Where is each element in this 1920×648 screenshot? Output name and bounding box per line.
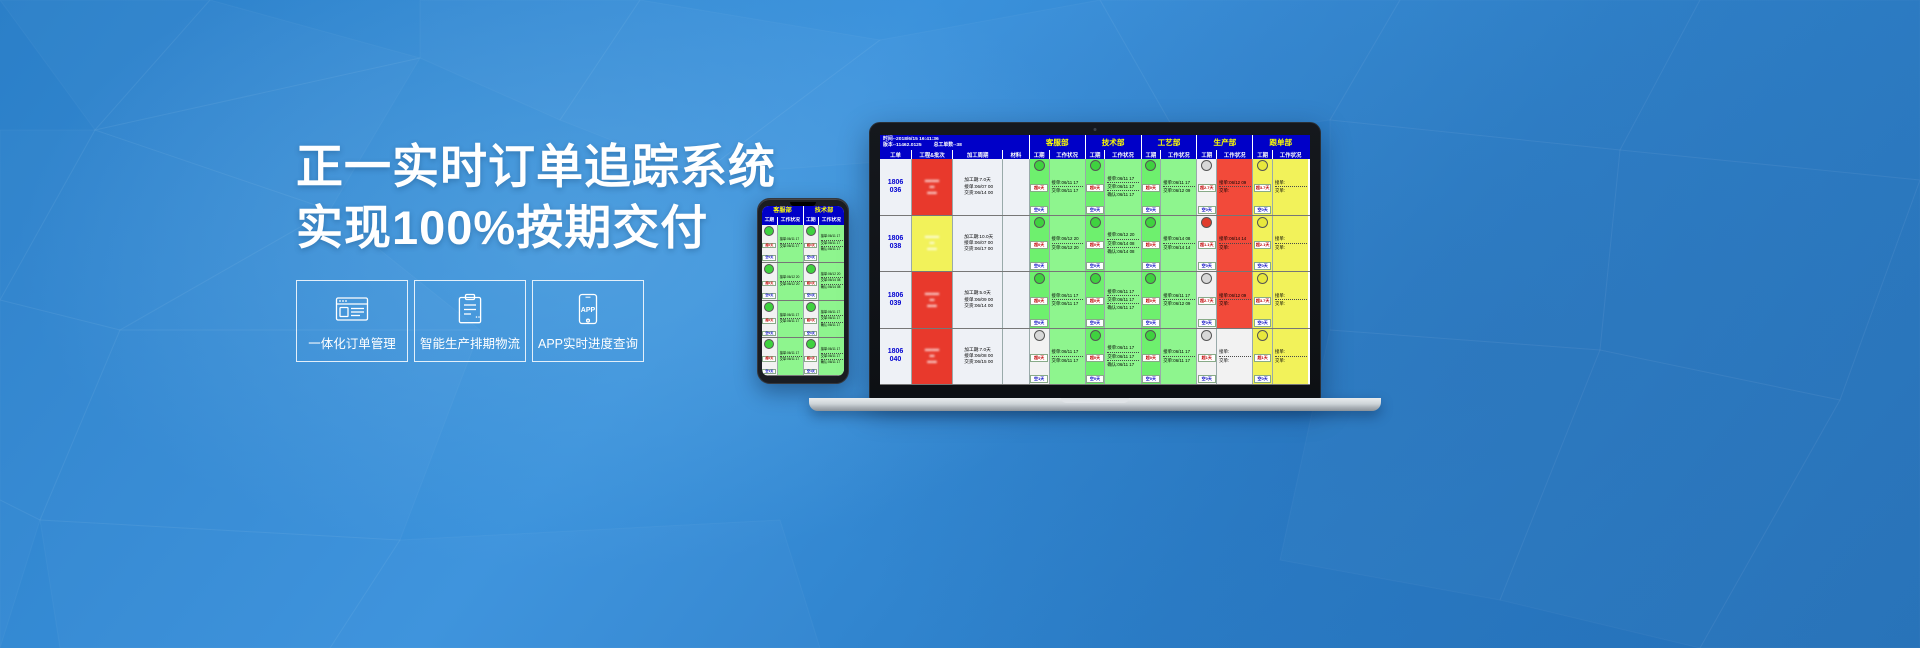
column-header-13: 工期 bbox=[1252, 150, 1272, 159]
duration-cell-4: 超1天空0天 bbox=[1196, 329, 1216, 385]
over-days-tag: 超2.7天 bbox=[1198, 184, 1216, 192]
status-dot bbox=[1201, 273, 1212, 284]
status-line-3: 确认:06/11 17 bbox=[1107, 304, 1139, 311]
column-header-10: 工作状况 bbox=[1160, 150, 1196, 159]
status-line-2: 交单:06/11 17 bbox=[1052, 357, 1084, 364]
status-line-1: 接单: bbox=[1275, 179, 1307, 187]
phone-column-header-3: 工期 bbox=[803, 217, 818, 225]
over-days-tag: 超0天 bbox=[804, 356, 817, 361]
laptop-base-notch bbox=[1061, 398, 1129, 403]
status-line-2: 交单:06/14 14 bbox=[1163, 244, 1195, 251]
phone-dept-header-1: 客服部 bbox=[762, 206, 803, 217]
status-cell-5: 接单:交单: bbox=[1272, 329, 1308, 385]
phone-duration-cell-2: 超0天空0天 bbox=[803, 225, 818, 262]
phone-status-cell-2: 接单:06/11 17交单:06/11 17确认:06/11 17 bbox=[818, 225, 844, 262]
status-cell-1: 接单:06/11 17交单:06/11 17 bbox=[1049, 329, 1085, 385]
idle-days-tag: 空0天 bbox=[1254, 319, 1272, 327]
phone-duration-cell-1: 超0天空0天 bbox=[762, 301, 777, 338]
over-days-tag: 超0天 bbox=[1030, 354, 1048, 362]
duration-cell-4: 超1.1天空0天 bbox=[1196, 216, 1216, 272]
phone-duration-cell-1: 超0天空1天 bbox=[762, 338, 777, 375]
column-header-7: 工期 bbox=[1085, 150, 1105, 159]
status-dot bbox=[1090, 330, 1101, 341]
order-number-line-1: 1806 bbox=[888, 179, 904, 187]
duration-cell-2: 超0天空0天 bbox=[1085, 329, 1105, 385]
over-days-tag: 超3.7天 bbox=[1254, 297, 1272, 305]
phone-duration-cell-1: 超0天空0天 bbox=[762, 225, 777, 262]
material-cell bbox=[1002, 159, 1029, 215]
idle-days-tag: 空1天 bbox=[1030, 375, 1048, 383]
status-cell-3: 接单:06/11 17交单:06/11 17 bbox=[1160, 329, 1196, 385]
phone-column-header-1: 工期 bbox=[762, 217, 777, 225]
idle-days-tag: 空0天 bbox=[1142, 206, 1160, 214]
over-days-tag: 超0天 bbox=[804, 318, 817, 323]
status-line-2: 交单: bbox=[1219, 187, 1251, 194]
status-line-1: 接单:06/11 17 bbox=[1052, 292, 1084, 300]
project-name-redacted: ■■■■■■ ■■ ■■■■ bbox=[912, 291, 952, 309]
status-line-1: 接单:06/11 17 bbox=[1107, 288, 1139, 296]
status-cell-4: 接单:06/12 09交单: bbox=[1216, 272, 1252, 328]
status-line-2: 交单:06/11 17 bbox=[780, 319, 802, 324]
phone-column-header-2: 工作状况 bbox=[777, 217, 803, 225]
feature-card-order-management[interactable]: 一体化订单管理 bbox=[296, 280, 408, 362]
over-days-tag: 超1天 bbox=[1198, 354, 1216, 362]
status-dot bbox=[1034, 330, 1045, 341]
material-cell bbox=[1002, 329, 1029, 385]
status-line-2: 交单:06/12 09 bbox=[1163, 300, 1195, 307]
phone-mockup: 客服部技术部工期工作状况工期工作状况超0天空0天接单:06/11 17交单:06… bbox=[757, 198, 849, 384]
status-line-2: 交单:06/12 20 bbox=[1052, 244, 1084, 251]
idle-days-tag: 空0天 bbox=[1086, 262, 1104, 270]
cycle-cell: 加工期:5.0天接单:06/09 00交货:06/14 00 bbox=[952, 272, 1002, 328]
status-line-1: 接单:06/11 17 bbox=[1163, 292, 1195, 300]
status-dot bbox=[1257, 273, 1268, 284]
cycle-line-2: 接单:06/09 00 bbox=[964, 297, 993, 303]
status-dot bbox=[1034, 217, 1045, 228]
status-line-1: 接单:06/11 17 bbox=[1107, 344, 1139, 352]
idle-days-tag: 空0天 bbox=[1086, 319, 1104, 327]
phone-duration-cell-1: 超0天空0天 bbox=[762, 263, 777, 300]
idle-days-tag: 空4天 bbox=[804, 369, 817, 374]
phone-screen[interactable]: 客服部技术部工期工作状况工期工作状况超0天空0天接单:06/11 17交单:06… bbox=[762, 206, 844, 376]
status-line-1: 接单:06/11 17 bbox=[1052, 179, 1084, 187]
table-row[interactable]: 1806040■■■■■■ ■■ ■■■■加工期:7.0天接单:06/08 00… bbox=[880, 329, 1310, 386]
status-cell-4: 接单:交单: bbox=[1216, 329, 1252, 385]
idle-days-tag: 空0天 bbox=[804, 331, 817, 336]
status-cell-4: 接单:06/12 09交单: bbox=[1216, 159, 1252, 215]
status-line-2: 交单:06/11 17 bbox=[1107, 183, 1139, 191]
idle-days-tag: 空0天 bbox=[1142, 262, 1160, 270]
phone-status-cell-1: 接单:06/11 17交单:06/11 17 bbox=[777, 301, 803, 338]
status-line-2: 交单: bbox=[1219, 244, 1251, 251]
order-number-cell: 1806038 bbox=[880, 216, 911, 272]
duration-cell-3: 超0天空0天 bbox=[1141, 216, 1161, 272]
status-cell-2: 接单:06/12 20交单:06/14 08确认:06/14 08 bbox=[1104, 216, 1140, 272]
order-number-cell: 1806039 bbox=[880, 272, 911, 328]
duration-cell-1: 超0天空0天 bbox=[1029, 216, 1049, 272]
over-days-tag: 超2.7天 bbox=[1198, 297, 1216, 305]
erp-body: 1806036■■■■■■ ■■ ■■■■加工期:7.0天接单:06/07 00… bbox=[880, 159, 1310, 385]
status-dot bbox=[1090, 217, 1101, 228]
window-list-icon bbox=[335, 292, 369, 326]
feature-label: 智能生产排期物流 bbox=[420, 333, 520, 352]
erp-total-label: 总工单数--38 bbox=[934, 143, 962, 149]
order-number-line-2: 036 bbox=[888, 187, 904, 195]
duration-cell-1: 超0天空1天 bbox=[1029, 329, 1049, 385]
phone-body: 超0天空0天接单:06/11 17交单:06/11 17超0天空0天接单:06/… bbox=[762, 225, 844, 376]
duration-cell-5: 超2.1天空0天 bbox=[1252, 216, 1272, 272]
duration-cell-4: 超2.7天空0天 bbox=[1196, 272, 1216, 328]
status-line-1: 接单:06/14 14 bbox=[1219, 235, 1251, 243]
status-line-2: 交单:06/11 17 bbox=[1107, 296, 1139, 304]
status-line-1: 接单: bbox=[1275, 235, 1307, 243]
phone-column-headers: 工期工作状况工期工作状况 bbox=[762, 217, 844, 225]
over-days-tag: 超0天 bbox=[1030, 184, 1048, 192]
banner-root: 正一实时订单追踪系统 实现100%按期交付 bbox=[0, 0, 1920, 648]
status-line-2: 交单: bbox=[1275, 187, 1307, 194]
phone-table-row[interactable]: 超0天空1天接单:06/11 17交单:06/11 17超0天空4天接单:06/… bbox=[762, 338, 844, 376]
erp-column-headers: 工单工程&批次加工周期材料工期工作状况工期工作状况工期工作状况工期工作状况工期工… bbox=[880, 150, 1310, 159]
column-header-8: 工作状况 bbox=[1104, 150, 1140, 159]
cycle-line-2: 接单:06/07 00 bbox=[964, 184, 993, 190]
status-dot bbox=[764, 302, 774, 312]
idle-days-tag: 空0天 bbox=[804, 293, 817, 298]
status-line-1: 接单:06/12 09 bbox=[1219, 179, 1251, 187]
idle-days-tag: 空0天 bbox=[1086, 375, 1104, 383]
phone-column-header-4: 工作状况 bbox=[818, 217, 844, 225]
idle-days-tag: 空0天 bbox=[762, 293, 776, 298]
status-line-1: 接单:06/11 17 bbox=[1107, 175, 1139, 183]
column-header-5: 工期 bbox=[1029, 150, 1049, 159]
table-row[interactable]: 1806036■■■■■■ ■■ ■■■■加工期:7.0天接单:06/07 00… bbox=[880, 159, 1310, 216]
status-dot bbox=[1145, 330, 1156, 341]
mobile-app-icon: APP bbox=[576, 292, 600, 326]
status-line-2: 交单: bbox=[1275, 300, 1307, 307]
status-dot bbox=[806, 264, 816, 274]
phone-duration-cell-2: 超0天空4天 bbox=[803, 338, 818, 375]
webcam-icon bbox=[1094, 128, 1097, 131]
status-line-2: 交单:06/12 09 bbox=[1163, 187, 1195, 194]
status-cell-5: 接单:交单: bbox=[1272, 272, 1308, 328]
idle-days-tag: 空0天 bbox=[1198, 319, 1216, 327]
over-days-tag: 超1天 bbox=[1254, 354, 1272, 362]
status-line-3: 确认:06/11 17 bbox=[1107, 191, 1139, 198]
feature-label: 一体化订单管理 bbox=[308, 333, 396, 352]
over-days-tag: 超0天 bbox=[1142, 184, 1160, 192]
order-number-line-1: 1806 bbox=[888, 235, 904, 243]
erp-version-label: 版本--11462.0125 bbox=[883, 143, 922, 149]
project-cell: ■■■■■■ ■■ ■■■■ bbox=[911, 159, 952, 215]
over-days-tag: 超0天 bbox=[1086, 297, 1104, 305]
duration-cell-5: 超3.7天空0天 bbox=[1252, 159, 1272, 215]
status-dot bbox=[1090, 160, 1101, 171]
status-line-3: 确认:06/11 17 bbox=[821, 360, 843, 365]
status-cell-2: 接单:06/11 17交单:06/11 17确认:06/11 17 bbox=[1104, 329, 1140, 385]
feature-card-smart-scheduling[interactable]: 智能生产排期物流 bbox=[414, 280, 526, 362]
status-dot bbox=[806, 339, 816, 349]
over-days-tag: 超0天 bbox=[1086, 354, 1104, 362]
status-dot bbox=[806, 226, 816, 236]
over-days-tag: 超0天 bbox=[804, 243, 817, 248]
column-header-4: 材料 bbox=[1002, 150, 1029, 159]
status-line-2: 交单:06/11 17 bbox=[1107, 353, 1139, 361]
status-dot bbox=[764, 264, 774, 274]
idle-days-tag: 空0天 bbox=[1030, 206, 1048, 214]
status-dot bbox=[806, 302, 816, 312]
status-cell-3: 接单:06/11 17交单:06/12 09 bbox=[1160, 272, 1196, 328]
duration-cell-3: 超0天空0天 bbox=[1141, 272, 1161, 328]
status-line-2: 交单: bbox=[1275, 357, 1307, 364]
status-line-1: 接单:06/12 20 bbox=[1107, 231, 1139, 239]
status-cell-3: 接单:06/14 08交单:06/14 14 bbox=[1160, 216, 1196, 272]
status-dot bbox=[1034, 273, 1045, 284]
erp-header-band: 时间--2018/6/15 16:41:36版本--11462.0125总工单数… bbox=[880, 135, 1310, 150]
cycle-line-1: 加工期:7.0天 bbox=[964, 177, 993, 183]
duration-cell-2: 超0天空0天 bbox=[1085, 216, 1105, 272]
order-number-line-2: 038 bbox=[888, 243, 904, 251]
idle-days-tag: 空0天 bbox=[1030, 262, 1048, 270]
status-cell-1: 接单:06/11 17交单:06/11 17 bbox=[1049, 159, 1085, 215]
status-cell-1: 接单:06/12 20交单:06/12 20 bbox=[1049, 216, 1085, 272]
idle-days-tag: 空0天 bbox=[1198, 375, 1216, 383]
over-days-tag: 超3.7天 bbox=[1254, 184, 1272, 192]
over-days-tag: 超0天 bbox=[762, 356, 776, 361]
dept-header-3: 工艺部 bbox=[1141, 135, 1197, 150]
order-number-line-2: 040 bbox=[888, 356, 904, 364]
idle-days-tag: 空0天 bbox=[1254, 262, 1272, 270]
status-line-2: 交单:06/11 17 bbox=[1052, 187, 1084, 194]
order-number-line-2: 039 bbox=[888, 300, 904, 308]
idle-days-tag: 空0天 bbox=[1142, 375, 1160, 383]
status-dot bbox=[1034, 160, 1045, 171]
duration-cell-4: 超2.7天空0天 bbox=[1196, 159, 1216, 215]
status-dot bbox=[1257, 160, 1268, 171]
status-dot bbox=[1257, 217, 1268, 228]
phone-status-cell-2: 接单:06/11 17交单:06/11 17确认:06/11 17 bbox=[818, 338, 844, 375]
laptop-lid: 时间--2018/6/15 16:41:36版本--11462.0125总工单数… bbox=[869, 122, 1321, 400]
status-dot bbox=[1145, 217, 1156, 228]
status-line-1: 接单:06/12 20 bbox=[1052, 235, 1084, 243]
idle-days-tag: 空0天 bbox=[1198, 206, 1216, 214]
project-cell: ■■■■■■ ■■ ■■■■ bbox=[911, 272, 952, 328]
over-days-tag: 超0天 bbox=[804, 281, 817, 286]
status-dot bbox=[1201, 330, 1212, 341]
clipboard-icon bbox=[456, 292, 484, 326]
cycle-line-1: 加工期:5.0天 bbox=[964, 290, 993, 296]
over-days-tag: 超2.1天 bbox=[1254, 241, 1272, 249]
table-row[interactable]: 1806038■■■■■■ ■■ ■■■■加工期:10.0天接单:06/07 0… bbox=[880, 216, 1310, 273]
idle-days-tag: 空0天 bbox=[1086, 206, 1104, 214]
status-dot bbox=[1257, 330, 1268, 341]
over-days-tag: 超0天 bbox=[762, 318, 776, 323]
over-days-tag: 超0天 bbox=[1142, 297, 1160, 305]
status-line-2: 交单:06/12 20 bbox=[780, 282, 802, 287]
project-cell: ■■■■■■ ■■ ■■■■ bbox=[911, 216, 952, 272]
status-line-3: 确认:06/11 17 bbox=[1107, 361, 1139, 368]
status-cell-4: 接单:06/14 14交单: bbox=[1216, 216, 1252, 272]
status-line-2: 交单:06/11 17 bbox=[780, 244, 802, 249]
status-line-3: 确认:06/11 17 bbox=[821, 323, 843, 328]
project-cell: ■■■■■■ ■■ ■■■■ bbox=[911, 329, 952, 385]
column-header-14: 工作状况 bbox=[1272, 150, 1308, 159]
duration-cell-2: 超0天空0天 bbox=[1085, 159, 1105, 215]
status-line-2: 交单:06/14 08 bbox=[1107, 240, 1139, 248]
order-number-cell: 1806040 bbox=[880, 329, 911, 385]
status-dot bbox=[1201, 217, 1212, 228]
status-dot bbox=[1201, 160, 1212, 171]
idle-days-tag: 空0天 bbox=[1254, 375, 1272, 383]
feature-label: APP实时进度查询 bbox=[538, 333, 638, 352]
phone-table-row[interactable]: 超0天空0天接单:06/11 17交单:06/11 17超0天空0天接单:06/… bbox=[762, 225, 844, 263]
column-header-12: 工作状况 bbox=[1216, 150, 1252, 159]
duration-cell-5: 超1天空0天 bbox=[1252, 329, 1272, 385]
column-header-11: 工期 bbox=[1196, 150, 1216, 159]
status-line-1: 接单: bbox=[1275, 348, 1307, 356]
status-line-1: 接单: bbox=[1219, 348, 1251, 356]
duration-cell-1: 超0天空0天 bbox=[1029, 159, 1049, 215]
cycle-line-3: 交货:06/14 00 bbox=[964, 303, 993, 309]
dept-header-5: 跟单部 bbox=[1252, 135, 1308, 150]
status-cell-3: 接单:06/11 17交单:06/12 09 bbox=[1160, 159, 1196, 215]
feature-card-app-query[interactable]: APP APP实时进度查询 bbox=[532, 280, 644, 362]
status-line-3: 确认:06/11 17 bbox=[821, 247, 843, 252]
over-days-tag: 超0天 bbox=[1142, 241, 1160, 249]
phone-duration-cell-2: 超0天空0天 bbox=[803, 263, 818, 300]
material-cell bbox=[1002, 216, 1029, 272]
order-number-line-1: 1806 bbox=[888, 292, 904, 300]
column-header-2: 工程&批次 bbox=[911, 150, 952, 159]
over-days-tag: 超0天 bbox=[1086, 184, 1104, 192]
column-header-3: 加工周期 bbox=[952, 150, 1002, 159]
phone-status-cell-2: 接单:06/12 20交单:06/14 08确认:06/14 08 bbox=[818, 263, 844, 300]
status-line-2: 交单: bbox=[1219, 357, 1251, 364]
cycle-line-3: 交货:06/17 00 bbox=[964, 246, 993, 252]
status-cell-2: 接单:06/11 17交单:06/11 17确认:06/11 17 bbox=[1104, 159, 1140, 215]
status-cell-5: 接单:交单: bbox=[1272, 159, 1308, 215]
table-row[interactable]: 1806039■■■■■■ ■■ ■■■■加工期:5.0天接单:06/09 00… bbox=[880, 272, 1310, 329]
headline-line-1: 正一实时订单追踪系统 bbox=[296, 140, 776, 193]
cycle-line-3: 交货:06/14 00 bbox=[964, 190, 993, 196]
cycle-line-3: 交货:06/15 00 bbox=[964, 359, 993, 365]
over-days-tag: 超0天 bbox=[1142, 354, 1160, 362]
dept-header-2: 技术部 bbox=[1085, 135, 1141, 150]
status-line-3: 确认:06/14 08 bbox=[1107, 248, 1139, 255]
order-number-line-1: 1806 bbox=[888, 348, 904, 356]
dept-header-4: 生产部 bbox=[1196, 135, 1252, 150]
phone-header-band: 客服部技术部 bbox=[762, 206, 844, 217]
dept-header-1: 客服部 bbox=[1029, 135, 1085, 150]
status-dot bbox=[764, 339, 774, 349]
idle-days-tag: 空0天 bbox=[762, 255, 776, 260]
cycle-cell: 加工期:7.0天接单:06/07 00交货:06/14 00 bbox=[952, 159, 1002, 215]
status-line-2: 交单:06/11 17 bbox=[780, 357, 802, 362]
status-line-1: 接单:06/12 09 bbox=[1219, 292, 1251, 300]
phone-duration-cell-2: 超0天空0天 bbox=[803, 301, 818, 338]
project-name-redacted: ■■■■■■ ■■ ■■■■ bbox=[912, 347, 952, 365]
over-days-tag: 超1.1天 bbox=[1198, 241, 1216, 249]
phone-status-cell-1: 接单:06/11 17交单:06/11 17 bbox=[777, 225, 803, 262]
cycle-cell: 加工期:10.0天接单:06/07 00交货:06/17 00 bbox=[952, 216, 1002, 272]
phone-table-row[interactable]: 超0天空0天接单:06/11 17交单:06/11 17超0天空0天接单:06/… bbox=[762, 301, 844, 339]
duration-cell-3: 超0天空0天 bbox=[1141, 159, 1161, 215]
idle-days-tag: 空0天 bbox=[1198, 262, 1216, 270]
status-dot bbox=[1145, 160, 1156, 171]
svg-text:APP: APP bbox=[581, 307, 596, 314]
project-name-redacted: ■■■■■■ ■■ ■■■■ bbox=[912, 178, 952, 196]
status-dot bbox=[764, 226, 774, 236]
status-line-2: 交单: bbox=[1275, 244, 1307, 251]
duration-cell-5: 超3.7天空0天 bbox=[1252, 272, 1272, 328]
idle-days-tag: 空0天 bbox=[1030, 319, 1048, 327]
phone-status-cell-2: 接单:06/11 17交单:06/11 17确认:06/11 17 bbox=[818, 301, 844, 338]
status-line-1: 接单:06/11 17 bbox=[1163, 348, 1195, 356]
duration-cell-3: 超0天空0天 bbox=[1141, 329, 1161, 385]
status-line-1: 接单:06/14 08 bbox=[1163, 235, 1195, 243]
over-days-tag: 超0天 bbox=[1030, 241, 1048, 249]
over-days-tag: 超0天 bbox=[1086, 241, 1104, 249]
material-cell bbox=[1002, 272, 1029, 328]
column-header-6: 工作状况 bbox=[1049, 150, 1085, 159]
phone-notch bbox=[790, 202, 816, 206]
status-line-2: 交单:06/11 17 bbox=[1052, 300, 1084, 307]
phone-status-cell-1: 接单:06/11 17交单:06/11 17 bbox=[777, 338, 803, 375]
status-line-1: 接单: bbox=[1275, 292, 1307, 300]
status-cell-1: 接单:06/11 17交单:06/11 17 bbox=[1049, 272, 1085, 328]
duration-cell-2: 超0天空0天 bbox=[1085, 272, 1105, 328]
over-days-tag: 超0天 bbox=[762, 243, 776, 248]
erp-meta: 时间--2018/6/15 16:41:36版本--11462.0125总工单数… bbox=[880, 135, 1029, 150]
phone-status-cell-1: 接单:06/12 20交单:06/12 20 bbox=[777, 263, 803, 300]
over-days-tag: 超0天 bbox=[762, 281, 776, 286]
status-line-3: 确认:06/14 08 bbox=[821, 285, 843, 290]
phone-dept-header-2: 技术部 bbox=[803, 206, 844, 217]
status-dot bbox=[1090, 273, 1101, 284]
status-cell-2: 接单:06/11 17交单:06/11 17确认:06/11 17 bbox=[1104, 272, 1140, 328]
project-name-redacted: ■■■■■■ ■■ ■■■■ bbox=[912, 234, 952, 252]
idle-days-tag: 空0天 bbox=[804, 255, 817, 260]
laptop-mockup: 时间--2018/6/15 16:41:36版本--11462.0125总工单数… bbox=[869, 122, 1321, 422]
duration-cell-1: 超0天空0天 bbox=[1029, 272, 1049, 328]
phone-table-row[interactable]: 超0天空0天接单:06/12 20交单:06/12 20超0天空0天接单:06/… bbox=[762, 263, 844, 301]
status-line-2: 交单: bbox=[1219, 300, 1251, 307]
cycle-cell: 加工期:7.0天接单:06/08 00交货:06/15 00 bbox=[952, 329, 1002, 385]
idle-days-tag: 空1天 bbox=[762, 369, 776, 374]
column-header-1: 工单 bbox=[880, 150, 911, 159]
idle-days-tag: 空0天 bbox=[1142, 319, 1160, 327]
column-header-9: 工期 bbox=[1141, 150, 1161, 159]
laptop-screen[interactable]: 时间--2018/6/15 16:41:36版本--11462.0125总工单数… bbox=[880, 135, 1310, 385]
idle-days-tag: 空0天 bbox=[762, 331, 776, 336]
order-number-cell: 1806036 bbox=[880, 159, 911, 215]
status-cell-5: 接单:交单: bbox=[1272, 216, 1308, 272]
over-days-tag: 超0天 bbox=[1030, 297, 1048, 305]
idle-days-tag: 空0天 bbox=[1254, 206, 1272, 214]
status-line-2: 交单:06/11 17 bbox=[1163, 357, 1195, 364]
status-line-1: 接单:06/11 17 bbox=[1163, 179, 1195, 187]
status-dot bbox=[1145, 273, 1156, 284]
status-line-1: 接单:06/11 17 bbox=[1052, 348, 1084, 356]
